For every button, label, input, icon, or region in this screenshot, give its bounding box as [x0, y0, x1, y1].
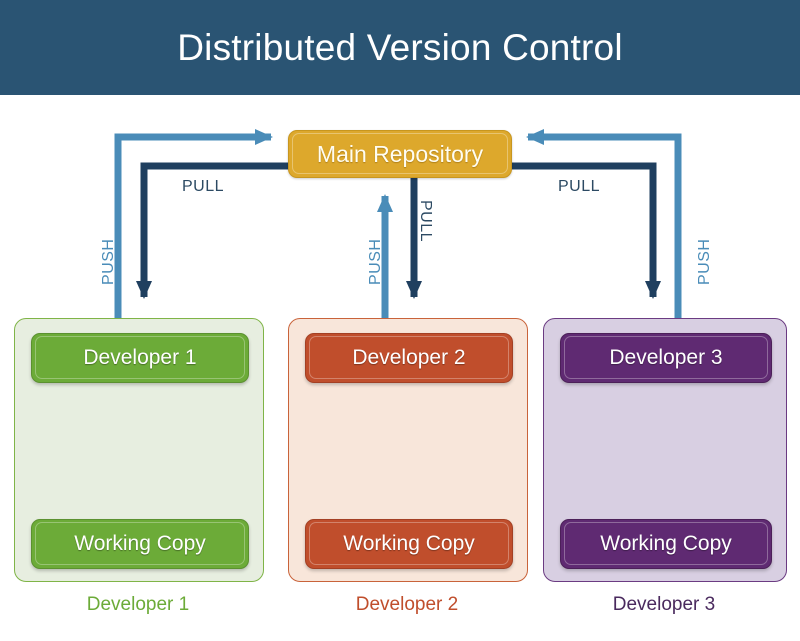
node-working-copy-1-label: Working Copy [74, 532, 206, 556]
node-working-copy-2[interactable]: Working Copy [305, 519, 513, 569]
node-developer-2[interactable]: Developer 2 [305, 333, 513, 383]
panel-developer-1: Developer 1 Working Copy [14, 318, 264, 582]
label-pull-developer-1: PULL [182, 178, 224, 196]
label-push-developer-2: PUSH [367, 239, 385, 285]
diagram-canvas: Distributed Version Control [0, 0, 800, 641]
label-pull-developer-3: PULL [558, 178, 600, 196]
caption-developer-2: Developer 2 [288, 592, 526, 618]
main-repository-node[interactable]: Main Repository [288, 130, 512, 178]
node-developer-1-label: Developer 1 [83, 346, 196, 370]
label-pull-developer-2: PULL [416, 200, 434, 242]
panel-developer-2: Developer 2 Working Copy [288, 318, 528, 582]
node-developer-3-label: Developer 3 [609, 346, 722, 370]
node-developer-1[interactable]: Developer 1 [31, 333, 249, 383]
node-working-copy-2-label: Working Copy [343, 532, 475, 556]
label-push-developer-1: PUSH [100, 239, 118, 285]
node-working-copy-3-label: Working Copy [600, 532, 732, 556]
label-push-developer-3: PUSH [696, 239, 714, 285]
main-repository-label: Main Repository [317, 141, 483, 168]
node-developer-2-label: Developer 2 [352, 346, 465, 370]
node-working-copy-1[interactable]: Working Copy [31, 519, 249, 569]
node-developer-3[interactable]: Developer 3 [560, 333, 772, 383]
node-working-copy-3[interactable]: Working Copy [560, 519, 772, 569]
caption-developer-1: Developer 1 [14, 592, 262, 618]
panel-developer-3: Developer 3 Working Copy [543, 318, 787, 582]
caption-developer-3: Developer 3 [543, 592, 785, 618]
